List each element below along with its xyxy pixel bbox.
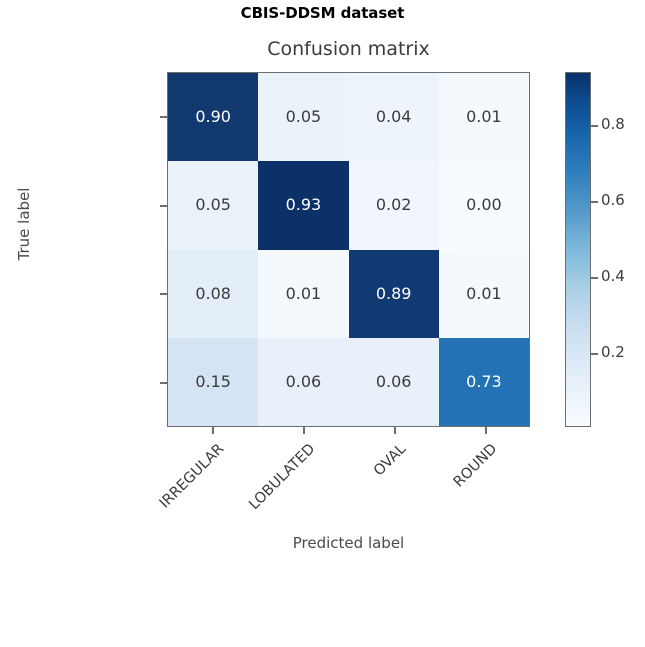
heatmap-cell-value: 0.89 <box>376 286 412 302</box>
colorbar-tick-label-1: 0.4 <box>601 267 625 285</box>
heatmap-cell-value: 0.05 <box>286 109 322 125</box>
heatmap-cell: 0.04 <box>349 73 439 161</box>
colorbar-tick-mark-1 <box>591 277 598 279</box>
heatmap-cell: 0.15 <box>168 338 258 426</box>
x-tick-mark-1 <box>303 427 305 434</box>
heatmap-cell: 0.06 <box>258 338 348 426</box>
y-tick-mark-1 <box>160 205 167 207</box>
y-tick-mark-0 <box>160 116 167 118</box>
colorbar-tick-label-2: 0.6 <box>601 191 625 209</box>
heatmap-cell: 0.89 <box>349 250 439 338</box>
y-axis-label: True label <box>15 164 33 284</box>
heatmap-cell: 0.01 <box>439 73 529 161</box>
heatmap-cell: 0.08 <box>168 250 258 338</box>
heatmap-cell: 0.05 <box>168 161 258 249</box>
heatmap-cell: 0.01 <box>258 250 348 338</box>
heatmap-cell-value: 0.73 <box>466 374 502 390</box>
y-tick-mark-2 <box>160 293 167 295</box>
colorbar-tick-mark-3 <box>591 125 598 127</box>
heatmap-cell-value: 0.06 <box>376 374 412 390</box>
heatmap-cell: 0.73 <box>439 338 529 426</box>
heatmap-cell: 0.00 <box>439 161 529 249</box>
x-axis-label: Predicted label <box>167 534 530 552</box>
confusion-matrix-heatmap: 0.90 0.05 0.04 0.01 0.05 0.93 0.02 0.00 … <box>167 72 530 427</box>
colorbar-tick-mark-2 <box>591 201 598 203</box>
heatmap-cell-value: 0.05 <box>195 197 231 213</box>
x-tick-mark-2 <box>394 427 396 434</box>
x-tick-mark-3 <box>485 427 487 434</box>
heatmap-cell-value: 0.08 <box>195 286 231 302</box>
heatmap-cell-value: 0.90 <box>195 109 231 125</box>
figure-suptitle: CBIS-DDSM dataset <box>0 4 645 22</box>
colorbar-tick-label-3: 0.8 <box>601 115 625 133</box>
colorbar-tick-mark-0 <box>591 353 598 355</box>
colorbar-tick-label-0: 0.2 <box>601 343 625 361</box>
heatmap-cell-value: 0.06 <box>286 374 322 390</box>
colorbar <box>565 72 591 427</box>
heatmap-cell: 0.93 <box>258 161 348 249</box>
heatmap-cell-value: 0.93 <box>286 197 322 213</box>
heatmap-cell-value: 0.02 <box>376 197 412 213</box>
heatmap-cell: 0.02 <box>349 161 439 249</box>
heatmap-cell: 0.01 <box>439 250 529 338</box>
heatmap-cell-value: 0.01 <box>286 286 322 302</box>
heatmap-cell: 0.05 <box>258 73 348 161</box>
heatmap-cell-value: 0.15 <box>195 374 231 390</box>
heatmap-cell-value: 0.01 <box>466 286 502 302</box>
heatmap-cell-value: 0.04 <box>376 109 412 125</box>
heatmap-cell-value: 0.00 <box>466 197 502 213</box>
chart-title: Confusion matrix <box>167 38 530 60</box>
x-tick-mark-0 <box>212 427 214 434</box>
y-tick-mark-3 <box>160 382 167 384</box>
heatmap-cell-value: 0.01 <box>466 109 502 125</box>
heatmap-cell: 0.06 <box>349 338 439 426</box>
heatmap-cell: 0.90 <box>168 73 258 161</box>
